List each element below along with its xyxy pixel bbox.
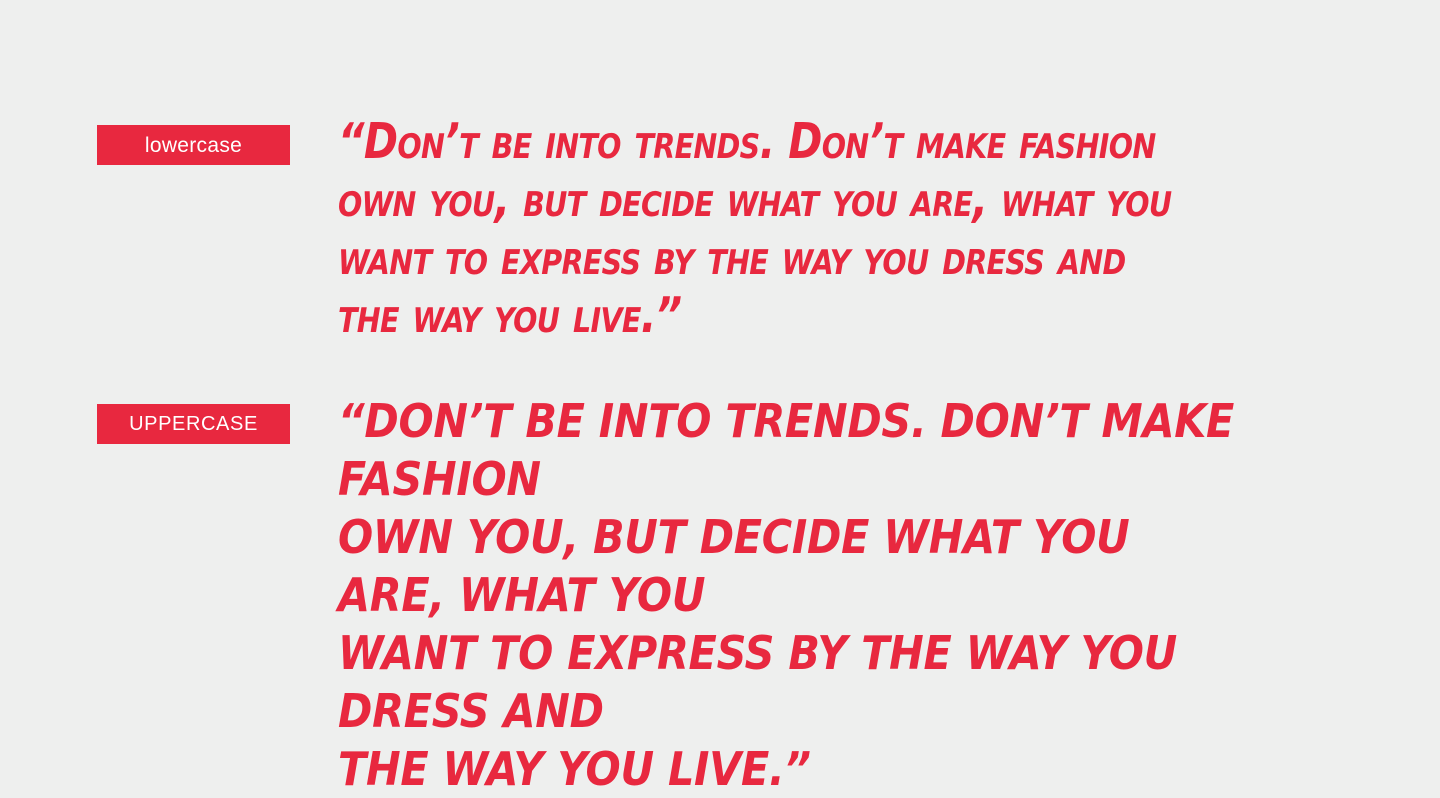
- sample-text-lowercase: “Don’t be into trends. Don’t make fashio…: [338, 113, 1178, 345]
- specimen-block-uppercase: UPPERCASE “DON’T BE INTO TRENDS. DON’T M…: [97, 392, 1338, 798]
- badge-label-uppercase: UPPERCASE: [129, 414, 258, 434]
- specimen-block-lowercase: lowercase “Don’t be into trends. Don’t m…: [97, 113, 1338, 345]
- badge-uppercase: UPPERCASE: [97, 404, 290, 444]
- badge-label-lowercase: lowercase: [145, 135, 242, 156]
- sample-text-uppercase: “DON’T BE INTO TRENDS. DON’T MAKE FASHIO…: [338, 392, 1238, 798]
- badge-lowercase: lowercase: [97, 125, 290, 165]
- font-specimen-page: lowercase “Don’t be into trends. Don’t m…: [0, 0, 1440, 720]
